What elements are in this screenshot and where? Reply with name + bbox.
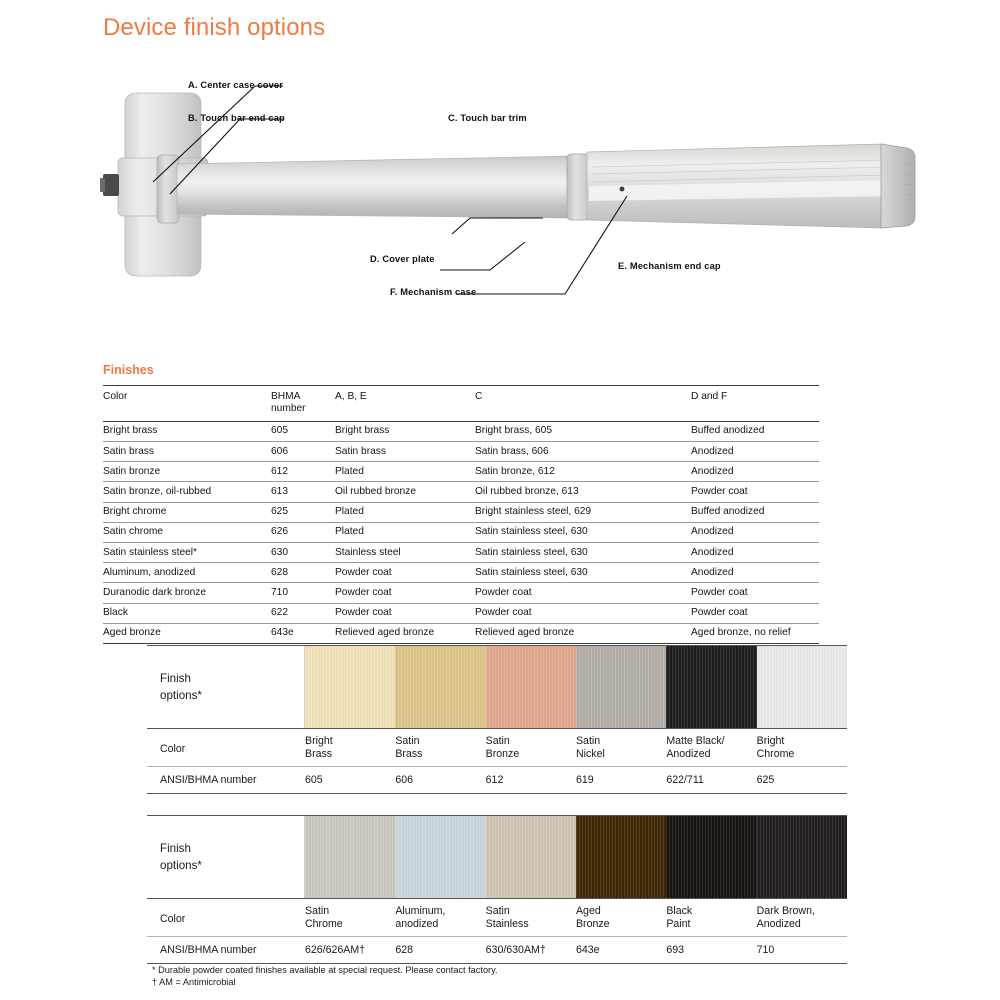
cell-c: Satin brass, 606 (475, 442, 691, 462)
device-diagram (95, 70, 925, 310)
callout-a-center-case-cover: A. Center case cover (188, 80, 283, 90)
cell-c: Bright brass, 605 (475, 421, 691, 441)
swatch-color-name: Matte Black/ Anodized (666, 729, 756, 766)
table-row: Satin chrome626PlatedSatin stainless ste… (103, 522, 819, 542)
cell-df: Powder coat (691, 583, 819, 603)
column-header-d-and-f: D and F (691, 386, 819, 422)
callout-f-mechanism-case: F. Mechanism case (390, 287, 476, 297)
swatch-grain-texture (757, 816, 847, 898)
cell-df: Buffed anodized (691, 502, 819, 522)
cell-bhma: 612 (271, 462, 335, 482)
swatch-numbers-2: 626/626AM†628630/630AM†643e693710 (305, 937, 847, 964)
swatch-number-row-label-1: ANSI/BHMA number (147, 767, 305, 794)
cell-c: Powder coat (475, 603, 691, 623)
finish-swatch (576, 816, 666, 898)
cell-df: Anodized (691, 542, 819, 562)
swatch-color-name: Satin Nickel (576, 729, 666, 766)
finish-swatch (757, 816, 847, 898)
finishes-table: Color BHMA number A, B, E C D and F Brig… (103, 385, 819, 644)
table-row: Bright brass605Bright brassBright brass,… (103, 421, 819, 441)
finish-swatch (305, 816, 395, 898)
swatch-color-row-label-2: Color (147, 899, 305, 933)
swatch-number-row-2: ANSI/BHMA number 626/626AM†628630/630AM†… (147, 937, 847, 965)
swatch-grain-texture (486, 816, 576, 898)
finish-swatch (576, 646, 666, 728)
cell-abe: Relieved aged bronze (335, 623, 475, 643)
swatch-color-name: Aged Bronze (576, 899, 666, 936)
footnotes: * Durable powder coated finishes availab… (152, 964, 498, 989)
finishes-header-row: Color BHMA number A, B, E C D and F (103, 386, 819, 422)
finish-swatch (486, 816, 576, 898)
swatch-color-name: Black Paint (666, 899, 756, 936)
cell-c: Satin stainless steel, 630 (475, 563, 691, 583)
finish-swatch (486, 646, 576, 728)
swatch-ansi-bhma-number: 625 (757, 767, 847, 794)
swatch-color-names-1: Bright BrassSatin BrassSatin BronzeSatin… (305, 729, 847, 766)
table-row: Satin stainless steel*630Stainless steel… (103, 542, 819, 562)
cell-bhma: 710 (271, 583, 335, 603)
finish-swatch (395, 816, 485, 898)
table-row: Bright chrome625PlatedBright stainless s… (103, 502, 819, 522)
cell-c: Satin stainless steel, 630 (475, 522, 691, 542)
cell-abe: Plated (335, 462, 475, 482)
cell-df: Powder coat (691, 603, 819, 623)
cell-bhma: 606 (271, 442, 335, 462)
cell-abe: Powder coat (335, 583, 475, 603)
swatch-strip-2: Finish options* (147, 815, 847, 899)
table-row: Aluminum, anodized628Powder coatSatin st… (103, 563, 819, 583)
finishes-table-head: Color BHMA number A, B, E C D and F (103, 386, 819, 422)
finish-options-title-1-text: Finish options* (160, 670, 304, 704)
swatch-color-names-2: Satin ChromeAluminum, anodizedSatin Stai… (305, 899, 847, 936)
finish-swatch (757, 646, 847, 728)
cell-bhma: 613 (271, 482, 335, 502)
cell-color: Duranodic dark bronze (103, 583, 271, 603)
cell-bhma: 628 (271, 563, 335, 583)
swatch-grain-texture (486, 646, 576, 728)
callout-e-mechanism-end-cap: E. Mechanism end cap (618, 261, 721, 271)
cell-bhma: 626 (271, 522, 335, 542)
cell-df: Anodized (691, 563, 819, 583)
cell-bhma: 630 (271, 542, 335, 562)
swatch-color-name: Satin Bronze (486, 729, 576, 766)
finish-options-title-1: Finish options* (147, 646, 305, 728)
swatch-ansi-bhma-number: 619 (576, 767, 666, 794)
cell-color: Satin brass (103, 442, 271, 462)
column-header-abe: A, B, E (335, 386, 475, 422)
callout-d-cover-plate: D. Cover plate (370, 254, 435, 264)
cell-c: Oil rubbed bronze, 613 (475, 482, 691, 502)
swatch-number-row-1: ANSI/BHMA number 605606612619622/711625 (147, 767, 847, 795)
finish-swatch (305, 646, 395, 728)
finishes-table-body: Bright brass605Bright brassBright brass,… (103, 421, 819, 643)
table-row: Aged bronze643eRelieved aged bronzeRelie… (103, 623, 819, 643)
swatch-ansi-bhma-number: 626/626AM† (305, 937, 395, 964)
cell-color: Satin chrome (103, 522, 271, 542)
swatch-cells-2 (305, 816, 847, 898)
cell-df: Anodized (691, 462, 819, 482)
swatch-color-row-2: Color Satin ChromeAluminum, anodizedSati… (147, 899, 847, 937)
cell-color: Bright brass (103, 421, 271, 441)
swatch-ansi-bhma-number: 643e (576, 937, 666, 964)
cell-abe: Satin brass (335, 442, 475, 462)
cell-c: Powder coat (475, 583, 691, 603)
finish-swatch (666, 816, 756, 898)
cell-color: Satin stainless steel* (103, 542, 271, 562)
cell-color: Black (103, 603, 271, 623)
swatch-strip-1: Finish options* (147, 645, 847, 729)
cell-abe: Stainless steel (335, 542, 475, 562)
cell-bhma: 625 (271, 502, 335, 522)
swatch-ansi-bhma-number: 710 (757, 937, 847, 964)
swatch-grain-texture (395, 816, 485, 898)
table-row: Satin brass606Satin brassSatin brass, 60… (103, 442, 819, 462)
column-header-bhma-text: BHMA number (271, 391, 306, 414)
finish-options-title-2: Finish options* (147, 816, 305, 898)
swatch-grain-texture (757, 646, 847, 728)
swatch-ansi-bhma-number: 693 (666, 937, 756, 964)
cell-df: Anodized (691, 442, 819, 462)
finish-swatch (666, 646, 756, 728)
cell-df: Powder coat (691, 482, 819, 502)
swatch-ansi-bhma-number: 605 (305, 767, 395, 794)
cell-bhma: 622 (271, 603, 335, 623)
swatch-ansi-bhma-number: 622/711 (666, 767, 756, 794)
swatch-color-name: Satin Brass (395, 729, 485, 766)
finish-options-title-2-text: Finish options* (160, 840, 304, 874)
cell-c: Satin bronze, 612 (475, 462, 691, 482)
cell-color: Satin bronze, oil-rubbed (103, 482, 271, 502)
swatch-ansi-bhma-number: 612 (486, 767, 576, 794)
cell-c: Relieved aged bronze (475, 623, 691, 643)
callout-b-touch-bar-end-cap: B. Touch bar end cap (188, 113, 285, 123)
cell-abe: Powder coat (335, 563, 475, 583)
swatch-color-name: Aluminum, anodized (395, 899, 485, 936)
cell-c: Bright stainless steel, 629 (475, 502, 691, 522)
cell-df: Buffed anodized (691, 421, 819, 441)
swatch-grain-texture (305, 816, 395, 898)
column-header-color: Color (103, 386, 271, 422)
column-header-c: C (475, 386, 691, 422)
cell-color: Aged bronze (103, 623, 271, 643)
swatch-ansi-bhma-number: 630/630AM† (486, 937, 576, 964)
swatch-grain-texture (395, 646, 485, 728)
cell-color: Aluminum, anodized (103, 563, 271, 583)
cell-c: Satin stainless steel, 630 (475, 542, 691, 562)
callout-c-touch-bar-trim: C. Touch bar trim (448, 113, 527, 123)
cell-abe: Powder coat (335, 603, 475, 623)
swatch-ansi-bhma-number: 606 (395, 767, 485, 794)
swatch-color-row-label-1: Color (147, 729, 305, 763)
swatch-grain-texture (666, 646, 756, 728)
table-row: Duranodic dark bronze710Powder coatPowde… (103, 583, 819, 603)
table-row: Satin bronze612PlatedSatin bronze, 612An… (103, 462, 819, 482)
swatch-color-name: Bright Brass (305, 729, 395, 766)
swatch-color-name: Bright Chrome (757, 729, 847, 766)
page-title: Device finish options (103, 14, 325, 42)
column-header-bhma-number: BHMA number (271, 386, 335, 422)
finish-options-table-1: Finish options* Color Bright BrassSatin … (147, 645, 847, 794)
finish-swatch (395, 646, 485, 728)
cell-abe: Bright brass (335, 421, 475, 441)
footnote-dagger: † AM = Antimicrobial (152, 976, 498, 988)
cell-bhma: 605 (271, 421, 335, 441)
cell-df: Aged bronze, no relief (691, 623, 819, 643)
cell-abe: Oil rubbed bronze (335, 482, 475, 502)
cell-color: Satin bronze (103, 462, 271, 482)
swatch-grain-texture (576, 816, 666, 898)
swatch-cells-1 (305, 646, 847, 728)
cell-abe: Plated (335, 502, 475, 522)
swatch-color-name: Satin Chrome (305, 899, 395, 936)
cell-color: Bright chrome (103, 502, 271, 522)
swatch-number-row-label-2: ANSI/BHMA number (147, 937, 305, 964)
swatch-color-name: Dark Brown, Anodized (757, 899, 847, 936)
cell-bhma: 643e (271, 623, 335, 643)
finish-options-table-2: Finish options* Color Satin ChromeAlumin… (147, 815, 847, 964)
cell-abe: Plated (335, 522, 475, 542)
swatch-grain-texture (576, 646, 666, 728)
table-row: Satin bronze, oil-rubbed613Oil rubbed br… (103, 482, 819, 502)
swatch-grain-texture (305, 646, 395, 728)
footnote-asterisk: * Durable powder coated finishes availab… (152, 964, 498, 976)
finishes-section-heading: Finishes (103, 363, 154, 377)
cell-df: Anodized (691, 522, 819, 542)
swatch-color-name: Satin Stainless (486, 899, 576, 936)
swatch-ansi-bhma-number: 628 (395, 937, 485, 964)
swatch-numbers-1: 605606612619622/711625 (305, 767, 847, 794)
swatch-color-row-1: Color Bright BrassSatin BrassSatin Bronz… (147, 729, 847, 767)
table-row: Black622Powder coatPowder coatPowder coa… (103, 603, 819, 623)
swatch-grain-texture (666, 816, 756, 898)
exit-device-illustration (95, 70, 925, 310)
